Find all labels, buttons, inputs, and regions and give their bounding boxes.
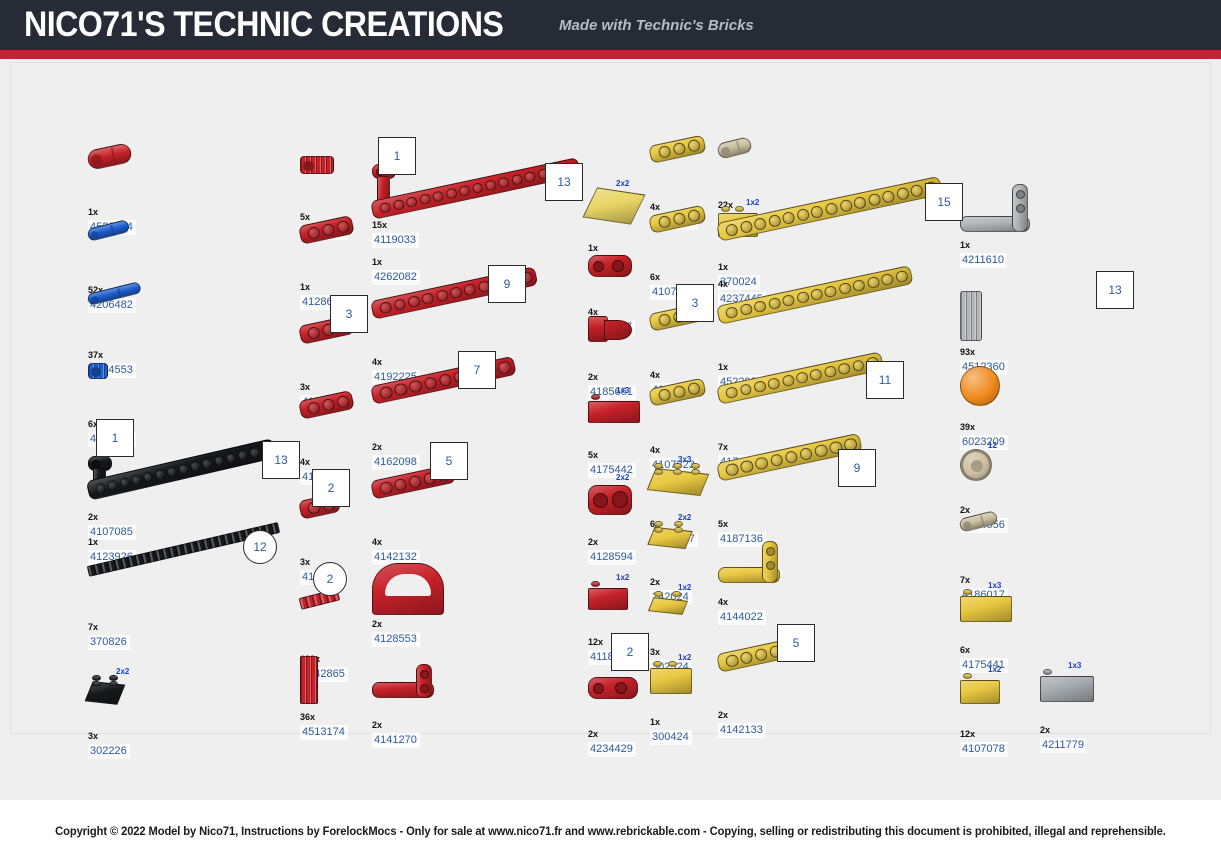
part-number[interactable]: 4142133 [718, 723, 766, 738]
part-quantity: 2x [1040, 725, 1160, 735]
part-illustration-4174709 [718, 386, 838, 442]
part-number[interactable]: 4107078 [960, 742, 1008, 757]
step-callout[interactable]: 13 [545, 163, 583, 201]
step-callout[interactable]: 13 [262, 441, 300, 479]
part-quantity: 1x [960, 240, 1080, 250]
page-title: NICO71'S TECHNIC CREATIONS [24, 5, 503, 45]
step-callout[interactable]: 2 [312, 469, 350, 507]
part-illustration-6023209 [960, 366, 1080, 422]
part-entry: 39x6023209 [960, 366, 1080, 450]
part-entry: 1x32x4211779 [1040, 669, 1160, 753]
part-illustration-4211610 [960, 184, 1080, 240]
part-illustration-4192225 [372, 301, 492, 357]
part-entry: 4x4142132 [372, 481, 492, 565]
part-quantity: 3x [88, 731, 208, 741]
part-dimension: 1x2 [616, 573, 629, 582]
part-number[interactable]: 4128594 [588, 550, 636, 565]
part-quantity: 1x [372, 257, 492, 267]
step-callout[interactable]: 3 [676, 284, 714, 322]
part-dimension: 2x2 [616, 473, 629, 482]
part-entry: 1x36x4175441 [960, 589, 1080, 673]
step-callout[interactable]: 15 [925, 183, 963, 221]
part-quantity: 93x [960, 347, 1080, 357]
part-quantity: 7x [88, 622, 208, 632]
part-illustration-4162098 [372, 386, 492, 442]
part-illustration-302226 [88, 675, 208, 731]
part-quantity: 2x [372, 619, 492, 629]
part-quantity: 1x [88, 207, 208, 217]
header-accent-rule [0, 50, 1221, 59]
part-quantity: 2x [372, 720, 492, 730]
part-illustration-4175441 [960, 589, 1080, 645]
part-entry: 93x4512360 [960, 291, 1080, 375]
part-entry: 7x370826 [88, 566, 208, 650]
step-callout[interactable]: 13 [1096, 271, 1134, 309]
part-illustration-4142132 [372, 481, 492, 537]
part-illustration-4262082 [372, 201, 492, 257]
part-illustration-4237445 [718, 223, 838, 279]
part-number[interactable]: 6023209 [960, 435, 1008, 450]
part-illustration-4186017 [960, 519, 1080, 575]
part-entry: 2x4142133 [718, 654, 838, 738]
part-number[interactable]: 4141270 [372, 733, 420, 748]
part-number[interactable]: 4128553 [372, 632, 420, 647]
part-entry: 1x4526984 [88, 151, 208, 235]
part-illustration-4522935 [718, 306, 838, 362]
step-callout[interactable]: 5 [777, 624, 815, 662]
part-quantity: 5x [718, 519, 838, 529]
parts-inventory-panel: 1x4526984 52x4206482 37x4514553 6x414300… [10, 62, 1211, 734]
page-header: NICO71'S TECHNIC CREATIONS Made with Tec… [0, 0, 1221, 50]
part-dimension: 2x2 [116, 667, 129, 676]
part-illustration-4211779 [1040, 669, 1160, 725]
part-dimension: 3x3 [678, 455, 691, 464]
part-number[interactable]: 4513174 [300, 725, 348, 740]
step-callout[interactable]: 9 [838, 449, 876, 487]
part-illustration-6013938 [718, 144, 838, 200]
step-callout[interactable]: 1 [96, 419, 134, 457]
parts-list-page: NICO71'S TECHNIC CREATIONS Made with Tec… [0, 0, 1221, 864]
part-quantity: 2x [718, 710, 838, 720]
part-quantity: 37x [88, 350, 208, 360]
part-number[interactable]: 4144022 [718, 610, 766, 625]
part-illustration-4141270 [372, 664, 492, 720]
part-number[interactable]: 4211610 [960, 253, 1007, 268]
part-entry: 1x4211610 [960, 184, 1080, 268]
page-subtitle: Made with Technic's Bricks [559, 17, 754, 34]
part-number[interactable]: 4211779 [1040, 738, 1087, 753]
part-illustration-370826 [88, 566, 208, 622]
part-dimension: 1x2 [746, 198, 759, 207]
step-callout[interactable]: 5 [430, 442, 468, 480]
step-callout[interactable]: 12 [243, 530, 277, 564]
part-entry: 1x4262082 [372, 201, 492, 285]
part-dimension: 1x2 [678, 583, 691, 592]
part-quantity: 4x [718, 597, 838, 607]
step-callout[interactable]: 2 [313, 562, 347, 596]
part-illustration-4512360 [960, 291, 1080, 347]
part-illustration-4526984 [88, 151, 208, 207]
part-entry: 2x4141270 [372, 664, 492, 748]
part-illustration-4142133 [718, 654, 838, 710]
part-illustration-4206482 [88, 229, 208, 285]
part-dimension: 1x3 [1068, 661, 1081, 670]
part-dimension: 2x2 [678, 513, 691, 522]
part-number[interactable]: 302226 [88, 744, 130, 759]
part-illustration-4514556 [960, 449, 1080, 505]
part-illustration-4128553 [372, 563, 492, 619]
part-number[interactable]: 370826 [88, 635, 130, 650]
part-number[interactable]: 300424 [650, 730, 692, 745]
part-illustration-4144022 [718, 541, 838, 597]
part-number[interactable]: 4234429 [588, 742, 636, 757]
step-callout[interactable]: 9 [488, 265, 526, 303]
part-dimension: 1x2 [678, 653, 691, 662]
part-illustration-4143005 [88, 363, 208, 419]
step-callout[interactable]: 11 [866, 361, 904, 399]
part-number[interactable]: 4262082 [372, 270, 420, 285]
part-dimension: 1x2 [988, 665, 1001, 674]
page-footer: Copyright © 2022 Model by Nico71, Instru… [0, 800, 1221, 864]
part-number[interactable]: 4162098 [372, 455, 420, 470]
part-dimension: 2x2 [616, 179, 629, 188]
part-quantity: 7x [960, 575, 1080, 585]
part-entry: 5x4187136 [718, 463, 838, 547]
part-quantity: 6x [960, 645, 1080, 655]
copyright-text: Copyright © 2022 Model by Nico71, Instru… [55, 826, 1166, 838]
part-entry: 4x4144022 [718, 541, 838, 625]
part-entry: 2x23x302226 [88, 675, 208, 759]
step-callout[interactable]: 7 [458, 351, 496, 389]
part-quantity: 4x [372, 537, 492, 547]
part-illustration-4123926 [88, 481, 208, 537]
part-quantity: 39x [960, 422, 1080, 432]
step-callout[interactable]: 3 [330, 295, 368, 333]
part-entry: 2x4128553 [372, 563, 492, 647]
part-dimension: 1x3 [988, 581, 1001, 590]
step-callout[interactable]: 1 [378, 137, 416, 175]
part-dimension: 12 [988, 441, 997, 450]
part-illustration-4514553 [88, 294, 208, 350]
part-illustration-4187136 [718, 463, 838, 519]
step-callout[interactable]: 2 [611, 633, 649, 671]
part-dimension: 1x3 [616, 386, 629, 395]
